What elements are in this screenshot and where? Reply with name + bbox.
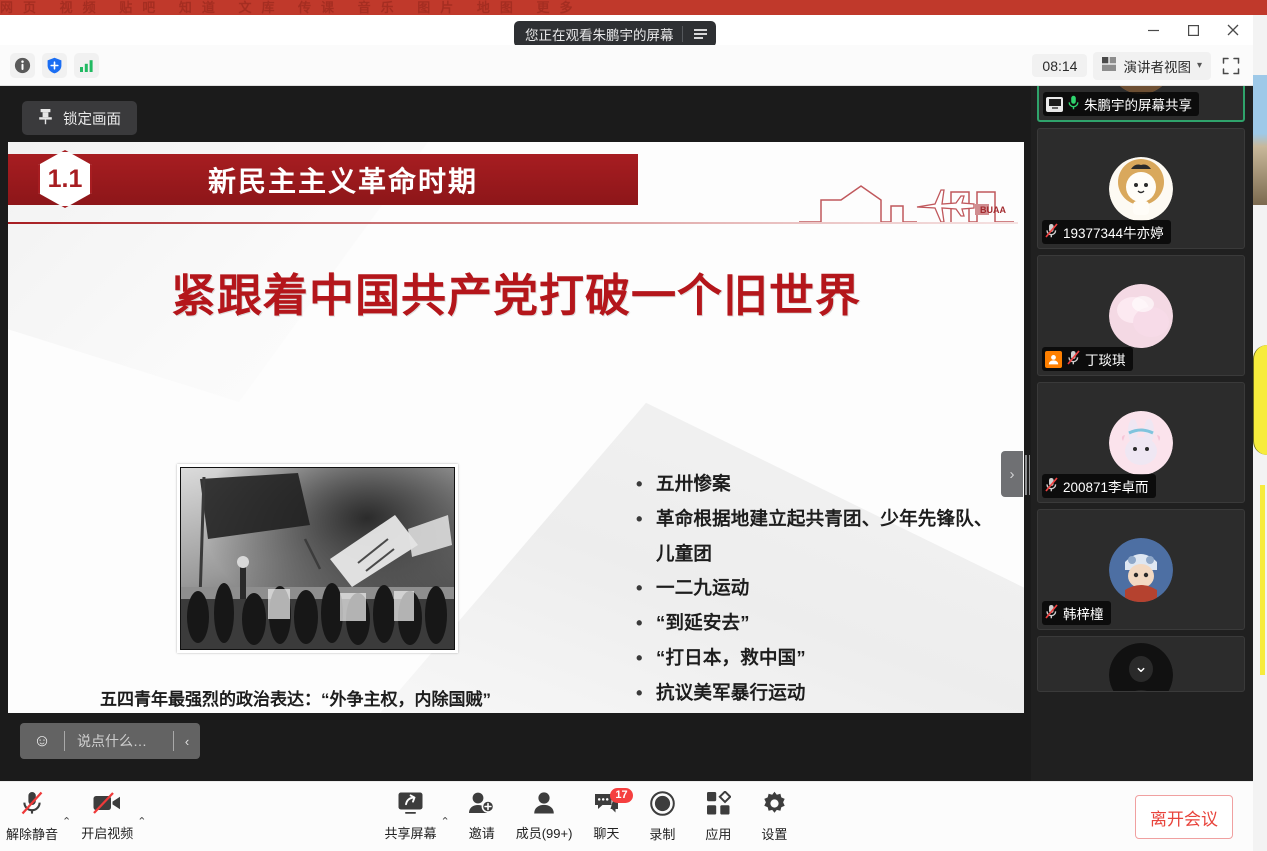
maximize-icon[interactable] xyxy=(1173,15,1213,45)
desktop-yellow-shape xyxy=(1253,345,1267,455)
meeting-window-root: 网页 视频 贴吧 知道 文库 传课 音乐 图片 地图 更多 您正在观看朱鹏宇的屏… xyxy=(0,0,1267,851)
leave-meeting-button[interactable]: 离开会议 xyxy=(1135,795,1233,839)
share-screen-button[interactable]: 共享屏幕 xyxy=(378,786,442,848)
list-item: 一二九运动 xyxy=(628,571,1008,606)
settings-button[interactable]: 设置 xyxy=(746,786,802,848)
desktop-browser-menu: 网页 视频 贴吧 知道 文库 传课 音乐 图片 地图 更多 xyxy=(0,0,1267,15)
smiley-icon[interactable]: ☺ xyxy=(20,731,64,751)
mic-muted-icon xyxy=(1045,604,1058,622)
apps-button[interactable]: 应用 xyxy=(690,786,746,848)
toolbar-left-group xyxy=(10,53,99,78)
invite-label: 邀请 xyxy=(469,823,495,842)
apps-grid-icon xyxy=(706,791,731,819)
meeting-timer: 08:14 xyxy=(1032,54,1087,77)
mic-muted-icon xyxy=(1045,223,1058,241)
meeting-control-bar: 解除静音 ⌃ 开启视频 ⌃ xyxy=(0,781,1253,851)
section-title-bar: 新民主主义革命时期 xyxy=(8,154,638,205)
toolbar-right-group: 08:14 演讲者视图 ▾ xyxy=(1032,45,1245,86)
chat-label: 聊天 xyxy=(593,823,619,842)
lock-screen-button[interactable]: 锁定画面 xyxy=(22,101,137,135)
fullscreen-icon[interactable] xyxy=(1217,53,1245,79)
next-panel-arrow-button[interactable]: › xyxy=(1001,451,1023,497)
apps-label: 应用 xyxy=(705,824,731,843)
participant-nametag: 韩梓橦 xyxy=(1042,601,1111,625)
info-icon[interactable] xyxy=(10,53,35,78)
hamburger-icon[interactable] xyxy=(691,29,710,39)
view-mode-label: 演讲者视图 xyxy=(1123,56,1191,76)
participant-tile-2[interactable]: 丁琰琪 xyxy=(1037,255,1245,376)
lock-screen-label: 锁定画面 xyxy=(63,108,121,129)
participant-name: 韩梓橦 xyxy=(1063,603,1104,623)
share-notice-pill[interactable]: 您正在观看朱鹏宇的屏幕 xyxy=(514,21,716,47)
scroll-down-icon[interactable]: ⌄ xyxy=(1134,657,1148,677)
chat-unread-badge: 17 xyxy=(610,788,632,803)
participant-tile-0[interactable]: 朱鹏宇的屏幕共享 xyxy=(1037,86,1245,122)
desktop-yellow-bar xyxy=(1260,485,1265,675)
list-item: 革命根据地建立起共青团、少年先锋队、儿童团 xyxy=(628,502,1008,572)
participant-rail[interactable]: 朱鹏宇的屏幕共享 xyxy=(1031,86,1253,781)
participant-nametag: 丁琰琪 xyxy=(1042,347,1133,371)
participant-name: 200871李卓而 xyxy=(1063,476,1149,496)
shared-screen-stage: 锁定画面 新民主主义革命时期 1.1 xyxy=(0,86,1031,781)
speaker-view-icon xyxy=(1102,57,1117,74)
avatar xyxy=(1109,538,1173,602)
participant-name: 19377344牛亦婷 xyxy=(1063,222,1164,242)
share-screen-icon xyxy=(397,791,424,818)
meeting-window: 您正在观看朱鹏宇的屏幕 xyxy=(0,15,1253,851)
members-label: 成员(99+) xyxy=(516,823,573,842)
avatar xyxy=(1109,284,1173,348)
settings-label: 设置 xyxy=(761,824,787,843)
share-notice-text: 您正在观看朱鹏宇的屏幕 xyxy=(525,24,674,44)
gear-icon xyxy=(762,791,787,819)
minimize-icon[interactable] xyxy=(1133,15,1173,45)
list-item: 抗议美军暴行运动 xyxy=(628,676,1008,711)
list-item: 五卅惨案 xyxy=(628,467,1008,502)
view-mode-selector[interactable]: 演讲者视图 ▾ xyxy=(1093,52,1211,80)
slide-main-title: 紧跟着中国共产党打破一个旧世界 xyxy=(8,259,1024,324)
participant-name: 丁琰琪 xyxy=(1085,349,1126,369)
share-screen-label: 共享屏幕 xyxy=(384,823,436,842)
shield-icon[interactable] xyxy=(42,53,67,78)
historical-photo xyxy=(177,464,458,653)
participant-nametag: 200871李卓而 xyxy=(1042,474,1156,498)
mute-toggle-button[interactable]: 解除静音 xyxy=(0,786,64,848)
mic-muted-icon xyxy=(19,790,45,819)
video-toggle-label: 开启视频 xyxy=(81,823,133,842)
slide-bullet-list: 五卅惨案 革命根据地建立起共青团、少年先锋队、儿童团 一二九运动 “到延安去” … xyxy=(628,467,1008,710)
title-bar: 您正在观看朱鹏宇的屏幕 xyxy=(0,15,1253,45)
divider xyxy=(682,26,683,42)
record-label: 录制 xyxy=(649,824,675,843)
mute-toggle-label: 解除静音 xyxy=(6,824,58,843)
host-icon xyxy=(1045,351,1062,368)
window-controls xyxy=(1133,15,1253,45)
chat-button[interactable]: 17 聊天 xyxy=(578,786,634,848)
participant-name: 朱鹏宇的屏幕共享 xyxy=(1084,94,1192,114)
close-icon[interactable] xyxy=(1213,15,1253,45)
slide-caption-1: 五四青年最强烈的政治表达：“外争主权，内除国贼” xyxy=(100,685,491,710)
skyline-decoration: BUAA xyxy=(799,174,1014,234)
list-item: “打日本，救中国” xyxy=(628,641,1008,676)
slide-section-header: 新民主主义革命时期 1.1 BUAA xyxy=(8,154,1024,210)
avatar xyxy=(1109,411,1173,475)
participant-nametag: 朱鹏宇的屏幕共享 xyxy=(1043,92,1199,116)
send-icon[interactable]: ‹ xyxy=(174,734,200,749)
avatar xyxy=(1109,157,1173,221)
participant-tile-1[interactable]: 19377344牛亦婷 xyxy=(1037,128,1245,249)
members-button[interactable]: 成员(99+) xyxy=(510,786,579,848)
record-icon xyxy=(650,791,675,819)
list-item: “到延安去” xyxy=(628,606,1008,641)
invite-button[interactable]: 邀请 xyxy=(454,786,510,848)
video-toggle-button[interactable]: 开启视频 xyxy=(75,786,139,848)
signal-bars-icon[interactable] xyxy=(74,53,99,78)
participant-tile-5[interactable]: ⌄ xyxy=(1037,636,1245,692)
quick-chat-placeholder[interactable]: 说点什么… xyxy=(65,731,173,751)
mic-muted-icon xyxy=(1067,350,1080,368)
meeting-body: 锁定画面 新民主主义革命时期 1.1 xyxy=(0,86,1253,781)
quick-chat-input-overlay[interactable]: ☺ 说点什么… ‹ xyxy=(20,723,200,759)
panel-drag-handle[interactable] xyxy=(1024,444,1031,506)
desktop-photo-thumb xyxy=(1253,75,1267,205)
desktop-background-right xyxy=(1253,15,1267,851)
presentation-slide: 新民主主义革命时期 1.1 BUAA xyxy=(8,142,1024,713)
camera-off-icon xyxy=(92,791,122,818)
screen-share-icon xyxy=(1046,97,1063,112)
members-icon xyxy=(532,791,556,818)
section-underline xyxy=(8,222,1018,224)
mic-on-icon xyxy=(1068,95,1079,113)
mic-muted-icon xyxy=(1045,477,1058,495)
record-button[interactable]: 录制 xyxy=(634,786,690,848)
invite-person-icon xyxy=(468,791,495,818)
participant-nametag: 19377344牛亦婷 xyxy=(1042,220,1171,244)
skyline-label: BUAA xyxy=(980,205,1006,215)
participant-tile-3[interactable]: 200871李卓而 xyxy=(1037,382,1245,503)
section-title: 新民主主义革命时期 xyxy=(208,160,478,200)
participant-tile-4[interactable]: 韩梓橦 xyxy=(1037,509,1245,630)
desktop-browser-strip: 网页 视频 贴吧 知道 文库 传课 音乐 图片 地图 更多 xyxy=(0,0,1267,15)
chevron-down-icon[interactable]: ▾ xyxy=(1197,60,1202,71)
meeting-toolbar: 08:14 演讲者视图 ▾ xyxy=(0,45,1253,86)
pin-icon xyxy=(38,108,53,129)
